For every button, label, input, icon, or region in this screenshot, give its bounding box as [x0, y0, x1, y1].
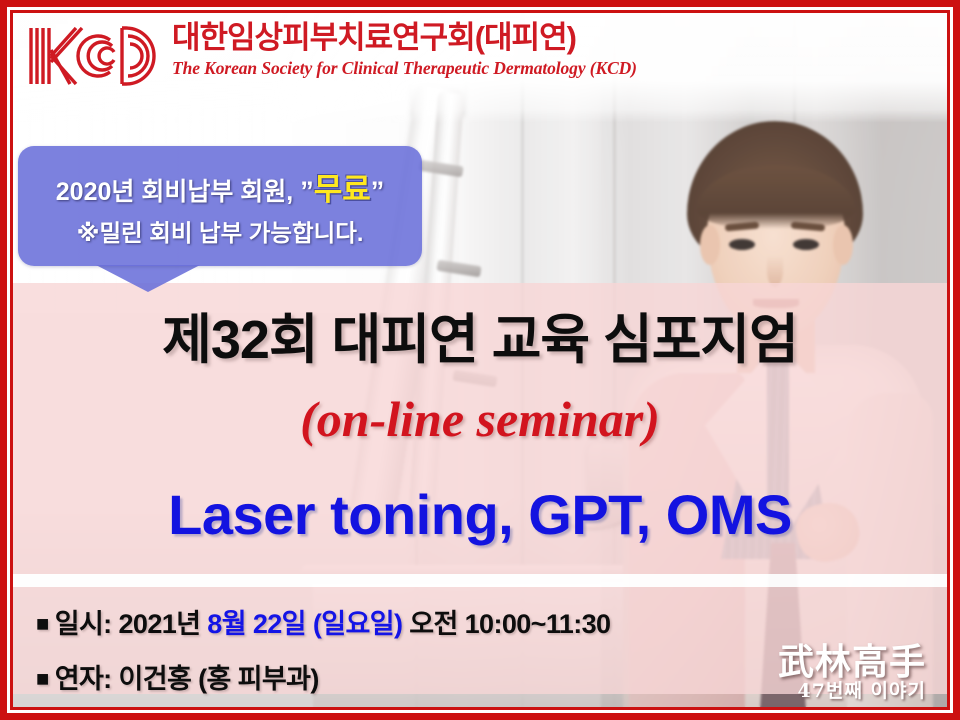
quote-open: ”: [300, 176, 314, 206]
band-divider-rule: [13, 574, 947, 587]
page-title: 제32회 대피연 교육 심포지엄: [0, 313, 960, 367]
fee-notice-prefix: 2020년 회비납부 회원,: [56, 178, 293, 206]
bullet-square-icon: ■: [36, 666, 49, 691]
kcd-logo-icon: [26, 20, 158, 92]
date-highlight: 8월 22일 (일요일): [207, 609, 402, 639]
org-name-english: The Korean Society for Clinical Therapeu…: [172, 58, 637, 79]
seminar-poster: 대한임상피부치료연구회(대피연) The Korean Society for …: [0, 0, 960, 720]
fee-notice-bubble: 2020년 회비납부 회원, ”무료” ※밀린 회비 납부 가능합니다.: [18, 146, 422, 266]
org-name-korean: 대한임상피부치료연구회(대피연): [172, 22, 637, 55]
watermark-subtitle: 47번째 이야기: [798, 676, 926, 703]
speaker-value: 이건홍 (홍 피부과): [118, 664, 318, 694]
quote-close: ”: [371, 176, 385, 206]
header-branding: 대한임상피부치료연구회(대피연) The Korean Society for …: [26, 20, 637, 92]
detail-speaker: ■연자: 이건홍 (홍 피부과): [36, 657, 319, 696]
date-time: 오전 10:00~11:30: [409, 609, 610, 639]
fee-notice-line-2: ※밀린 회비 납부 가능합니다.: [18, 214, 422, 248]
detail-datetime: ■일시: 2021년 8월 22일 (일요일) 오전 10:00~11:30: [36, 602, 610, 641]
subtitle-online-seminar: (on-line seminar): [0, 394, 960, 444]
speaker-label: 연자:: [55, 664, 112, 694]
fee-notice-line-1: 2020년 회비납부 회원, ”무료”: [18, 164, 422, 209]
date-year: 2021년: [118, 609, 200, 639]
fee-notice-highlight: 무료: [314, 172, 371, 207]
bullet-square-icon: ■: [36, 611, 49, 636]
date-label: 일시:: [55, 609, 112, 639]
topic-heading: Laser toning, GPT, OMS: [0, 487, 960, 543]
bubble-tail: [96, 265, 200, 292]
